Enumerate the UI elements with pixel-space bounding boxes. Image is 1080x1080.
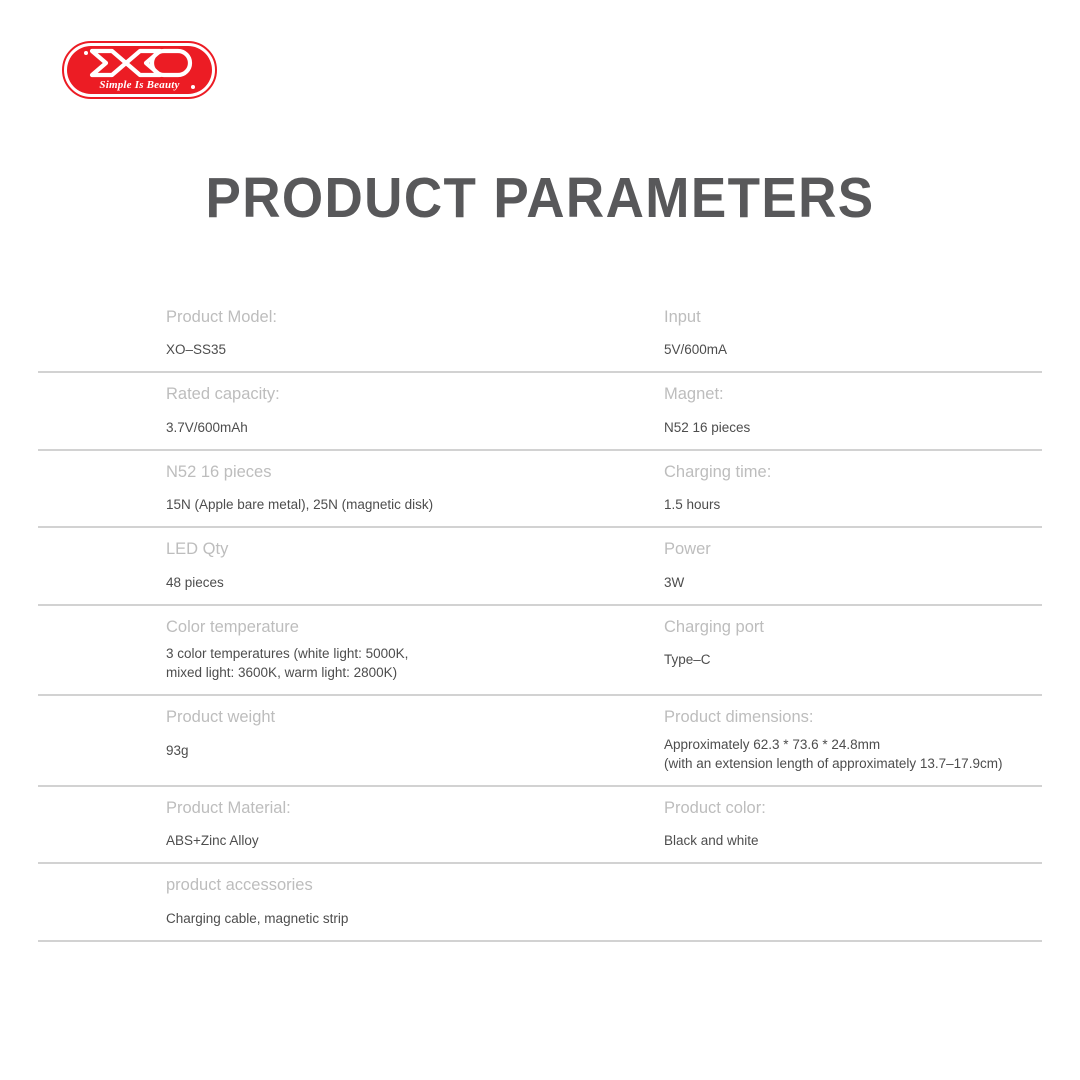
spec-label: Color temperature [166,616,551,638]
spec-cell-left: Product Material: ABS+Zinc Alloy [38,787,551,862]
spec-cell-left: N52 16 pieces 15N (Apple bare metal), 25… [38,451,551,526]
spec-cell-right: Input 5V/600mA [551,296,1042,371]
spec-label: Charging port [664,616,1042,638]
spec-label: Product Material: [166,797,551,819]
spec-value: ABS+Zinc Alloy [166,831,551,850]
spec-value: Type–C [664,650,1042,669]
spec-cell-left: Color temperature 3 color temperatures (… [38,606,551,695]
spec-label: LED Qty [166,538,551,560]
spec-value: 3.7V/600mAh [166,418,551,437]
spec-cell-left: LED Qty 48 pieces [38,528,551,603]
spec-label: Power [664,538,1042,560]
spec-value: N52 16 pieces [664,418,1042,437]
spec-value: 3 color temperatures (white light: 5000K… [166,644,551,682]
spec-value: Charging cable, magnetic strip [166,909,551,928]
spec-value: Approximately 62.3 * 73.6 * 24.8mm (with… [664,735,1042,773]
spec-label: Product weight [166,706,551,728]
spec-cell-right: Power 3W [551,528,1042,603]
table-row: LED Qty 48 pieces Power 3W [38,528,1042,605]
spec-value: 3W [664,573,1042,592]
spec-cell-right: Charging port Type–C [551,606,1042,681]
logo-dot-top-left [84,51,88,55]
table-row: product accessories Charging cable, magn… [38,864,1042,941]
table-row: Product Model: XO–SS35 Input 5V/600mA [38,296,1042,373]
table-row: N52 16 pieces 15N (Apple bare metal), 25… [38,451,1042,528]
spec-cell-right: Product color: Black and white [551,787,1042,862]
spec-label: Product dimensions: [664,706,1042,728]
table-row: Color temperature 3 color temperatures (… [38,606,1042,697]
spec-value: 1.5 hours [664,495,1042,514]
spec-label: product accessories [166,874,551,896]
brand-logo: Simple Is Beauty [62,41,217,99]
spec-value: XO–SS35 [166,340,551,359]
table-row: Product weight 93g Product dimensions: A… [38,696,1042,787]
spec-value: 48 pieces [166,573,551,592]
spec-label: Rated capacity: [166,383,551,405]
spec-cell-left: product accessories Charging cable, magn… [38,864,551,939]
spec-label: N52 16 pieces [166,461,551,483]
spec-value: Black and white [664,831,1042,850]
spec-cell-right: Product dimensions: Approximately 62.3 *… [551,696,1042,785]
spec-label: Product color: [664,797,1042,819]
table-row: Product Material: ABS+Zinc Alloy Product… [38,787,1042,864]
spec-label: Product Model: [166,306,551,328]
spec-value: 5V/600mA [664,340,1042,359]
spec-label: Charging time: [664,461,1042,483]
table-row: Rated capacity: 3.7V/600mAh Magnet: N52 … [38,373,1042,450]
spec-value: 93g [166,741,551,760]
page-title: PRODUCT PARAMETERS [38,170,1042,227]
spec-cell-left: Product Model: XO–SS35 [38,296,551,371]
spec-cell-right: Magnet: N52 16 pieces [551,373,1042,448]
spec-value: 15N (Apple bare metal), 25N (magnetic di… [166,495,551,514]
product-parameters-table: Product Model: XO–SS35 Input 5V/600mA Ra… [38,296,1042,942]
spec-label: Magnet: [664,383,1042,405]
spec-label: Input [664,306,1042,328]
spec-cell-left: Product weight 93g [38,696,551,771]
spec-cell-left: Rated capacity: 3.7V/600mAh [38,373,551,448]
spec-cell-right: Charging time: 1.5 hours [551,451,1042,526]
logo-dot-bottom-right [191,85,195,89]
